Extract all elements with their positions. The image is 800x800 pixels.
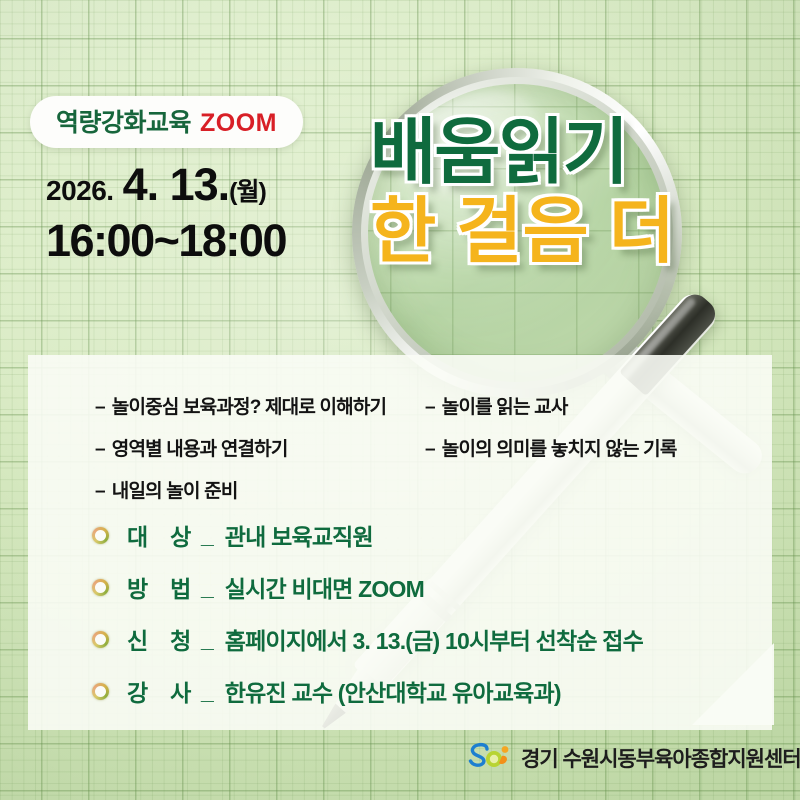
bullet-dash-icon: – bbox=[95, 439, 105, 460]
detail-separator: _ bbox=[201, 522, 214, 549]
event-date-line: 2026. 4. 13. (월) bbox=[46, 162, 286, 207]
topic-list-columns: –놀이중심 보육과정? 제대로 이해하기 –영역별 내용과 연결하기 –내일의 … bbox=[95, 398, 755, 524]
detail-value: 실시간 비대면 ZOOM bbox=[225, 570, 424, 604]
bullet-dash-icon: – bbox=[425, 439, 435, 460]
ring-bullet-icon bbox=[92, 579, 109, 596]
detail-value: 홈페이지에서 3. 13.(금) 10시부터 선착순 접수 bbox=[225, 622, 643, 656]
event-month-day: 4. 13. bbox=[123, 162, 230, 207]
organization-name: 경기 수원시동부육아종합지원센터 bbox=[521, 743, 800, 773]
title-line-2: 한 걸음 더 bbox=[370, 197, 790, 268]
list-item-label: 영역별 내용과 연결하기 bbox=[112, 439, 288, 460]
event-day-of-week: (월) bbox=[229, 180, 266, 205]
badge-label-platform: ZOOM bbox=[200, 109, 277, 138]
ring-bullet-icon bbox=[92, 631, 109, 648]
poster-root: 역량강화교육 ZOOM 2026. 4. 13. (월) 16:00~18:00… bbox=[0, 0, 800, 800]
course-type-badge: 역량강화교육 ZOOM bbox=[30, 96, 303, 148]
event-time: 16:00~18:00 bbox=[46, 218, 286, 263]
bullet-dash-icon: – bbox=[95, 481, 105, 502]
detail-row-instructor: 강사 _ 한유진 교수 (안산대학교 유아교육과) bbox=[92, 674, 643, 708]
event-year: 2026. bbox=[46, 177, 114, 205]
list-item: –놀이의 의미를 놓치지 않는 기록 bbox=[425, 440, 755, 459]
list-item-label: 놀이의 의미를 놓치지 않는 기록 bbox=[442, 439, 677, 460]
list-item-label: 놀이중심 보육과정? 제대로 이해하기 bbox=[112, 397, 386, 418]
detail-separator: _ bbox=[201, 574, 214, 601]
detail-row-application: 신청 _ 홈페이지에서 3. 13.(금) 10시부터 선착순 접수 bbox=[92, 622, 643, 656]
topic-list: –놀이중심 보육과정? 제대로 이해하기 –영역별 내용과 연결하기 –내일의 … bbox=[95, 398, 755, 524]
badge-label-korean: 역량강화교육 bbox=[56, 103, 191, 139]
event-details-list: 대상 _ 관내 보육교직원 방법 _ 실시간 비대면 ZOOM 신청 _ 홈페이… bbox=[92, 518, 643, 726]
detail-separator: _ bbox=[201, 678, 214, 705]
list-item: –영역별 내용과 연결하기 bbox=[95, 440, 425, 459]
title-line-1: 배움읽기 bbox=[370, 118, 790, 189]
detail-label: 대상 bbox=[127, 518, 205, 552]
bullet-dash-icon: – bbox=[425, 397, 435, 418]
detail-row-audience: 대상 _ 관내 보육교직원 bbox=[92, 518, 643, 552]
list-item: –내일의 놀이 준비 bbox=[95, 482, 425, 501]
detail-value: 관내 보육교직원 bbox=[225, 518, 373, 552]
list-item: –놀이를 읽는 교사 bbox=[425, 398, 755, 417]
list-item-label: 놀이를 읽는 교사 bbox=[442, 397, 568, 418]
organization-logo-icon bbox=[468, 742, 512, 774]
detail-label: 방법 bbox=[127, 570, 205, 604]
detail-label: 신청 bbox=[127, 622, 205, 656]
list-item-label: 내일의 놀이 준비 bbox=[112, 481, 238, 502]
detail-row-method: 방법 _ 실시간 비대면 ZOOM bbox=[92, 570, 643, 604]
footer-branding: 경기 수원시동부육아종합지원센터 bbox=[468, 742, 800, 774]
detail-value: 한유진 교수 (안산대학교 유아교육과) bbox=[225, 674, 561, 708]
ring-bullet-icon bbox=[92, 527, 109, 544]
poster-title: 배움읽기 한 걸음 더 bbox=[370, 118, 790, 267]
event-datetime: 2026. 4. 13. (월) 16:00~18:00 bbox=[46, 162, 286, 263]
ring-bullet-icon bbox=[92, 683, 109, 700]
topic-column-left: –놀이중심 보육과정? 제대로 이해하기 –영역별 내용과 연결하기 –내일의 … bbox=[95, 398, 425, 524]
list-item: –놀이중심 보육과정? 제대로 이해하기 bbox=[95, 398, 425, 417]
detail-separator: _ bbox=[201, 626, 214, 653]
detail-label: 강사 bbox=[127, 674, 205, 708]
bullet-dash-icon: – bbox=[95, 397, 105, 418]
topic-column-right: –놀이를 읽는 교사 –놀이의 의미를 놓치지 않는 기록 bbox=[425, 398, 755, 524]
